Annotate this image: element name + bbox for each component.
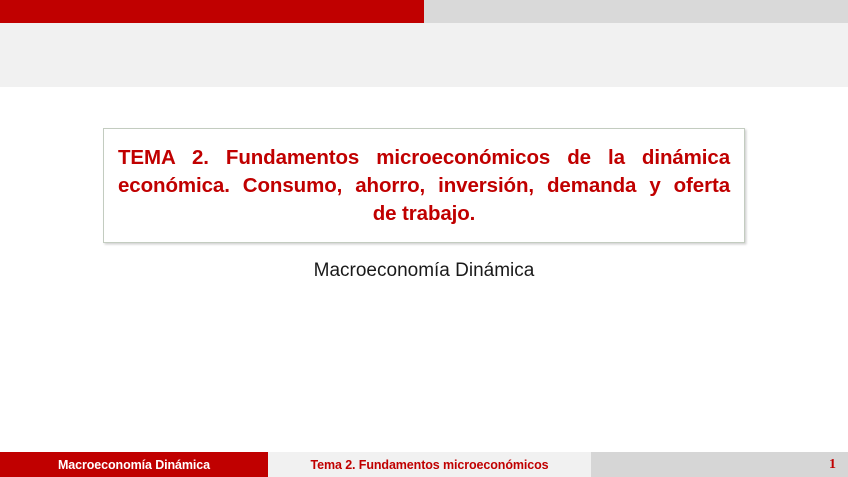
footer-page-number: 1 xyxy=(829,457,848,473)
slide-footer: Macroeconomía Dinámica Tema 2. Fundament… xyxy=(0,452,848,477)
slide-content-area xyxy=(0,300,848,450)
slide-subtitle: Macroeconomía Dinámica xyxy=(0,258,848,284)
page-title-line-2: económica. Consumo, ahorro, inversión, d… xyxy=(118,172,730,200)
footer-page-block: 1 xyxy=(591,452,848,477)
subheader-gray-band xyxy=(0,23,848,87)
page-title: TEMA 2. Fundamentos microeconómicos de l… xyxy=(118,144,730,228)
footer-course-block: Macroeconomía Dinámica xyxy=(0,452,268,477)
footer-topic-block: Tema 2. Fundamentos microeconómicos xyxy=(268,452,591,477)
top-band-red-block xyxy=(0,0,424,23)
page-title-line-3: de trabajo. xyxy=(118,200,730,228)
top-band-gray-block xyxy=(424,0,848,23)
page-title-line-1: TEMA 2. Fundamentos microeconómicos de l… xyxy=(118,144,730,172)
footer-topic-label: Tema 2. Fundamentos microeconómicos xyxy=(311,458,549,472)
top-decoration-band xyxy=(0,0,848,23)
footer-course-label: Macroeconomía Dinámica xyxy=(58,458,210,472)
slide-title-card: TEMA 2. Fundamentos microeconómicos de l… xyxy=(103,128,745,243)
